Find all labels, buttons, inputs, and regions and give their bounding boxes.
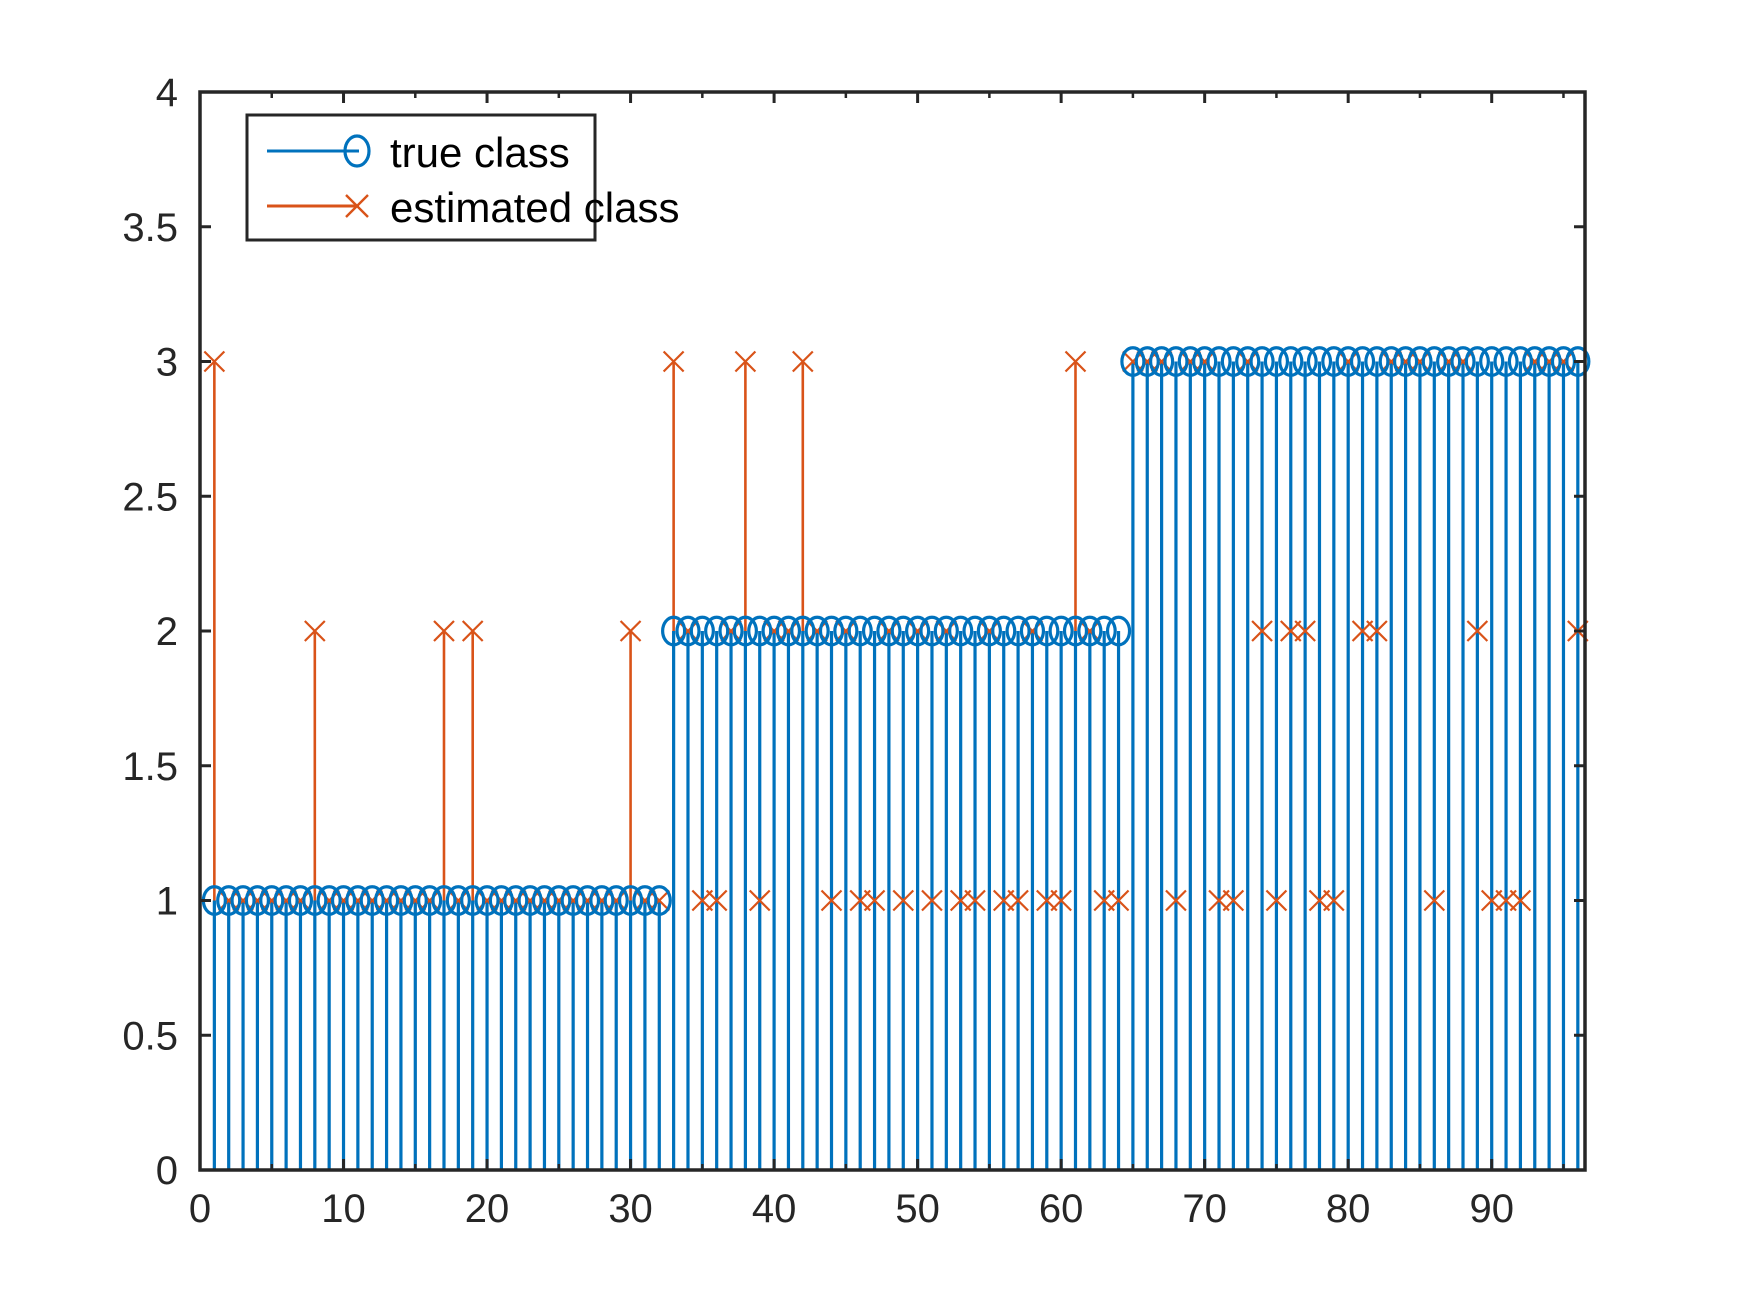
y-axis-tick-label: 2: [156, 610, 178, 654]
legend-item-label[interactable]: true class: [390, 129, 570, 176]
x-axis-tick-label: 10: [321, 1187, 366, 1231]
x-axis-tick-label: 40: [752, 1187, 797, 1231]
x-axis-tick-label: 30: [608, 1187, 653, 1231]
y-axis-tick-label: 1.5: [122, 745, 178, 789]
y-axis-tick-label: 0: [156, 1149, 178, 1193]
x-axis-tick-label: 90: [1469, 1187, 1514, 1231]
x-axis-tick-label: 50: [895, 1187, 940, 1231]
x-axis-tick-label: 80: [1326, 1187, 1371, 1231]
figure-container: 0102030405060708090 00.511.522.533.54 tr…: [0, 0, 1750, 1313]
y-axis-tick-label: 3.5: [122, 206, 178, 250]
x-axis-tick-label: 60: [1039, 1187, 1084, 1231]
legend-item-label[interactable]: estimated class: [390, 184, 679, 231]
y-axis-tick-label: 1: [156, 880, 178, 924]
y-axis-tick-label: 0.5: [122, 1014, 178, 1058]
x-axis-tick-label: 20: [465, 1187, 510, 1231]
x-axis-tick-label: 0: [189, 1187, 211, 1231]
y-axis-tick-label: 4: [156, 71, 178, 115]
stem-plot-svg: 0102030405060708090 00.511.522.533.54 tr…: [0, 0, 1750, 1313]
x-axis-tick-label: 70: [1182, 1187, 1227, 1231]
y-axis-tick-label: 3: [156, 341, 178, 385]
y-axis-tick-label: 2.5: [122, 475, 178, 519]
